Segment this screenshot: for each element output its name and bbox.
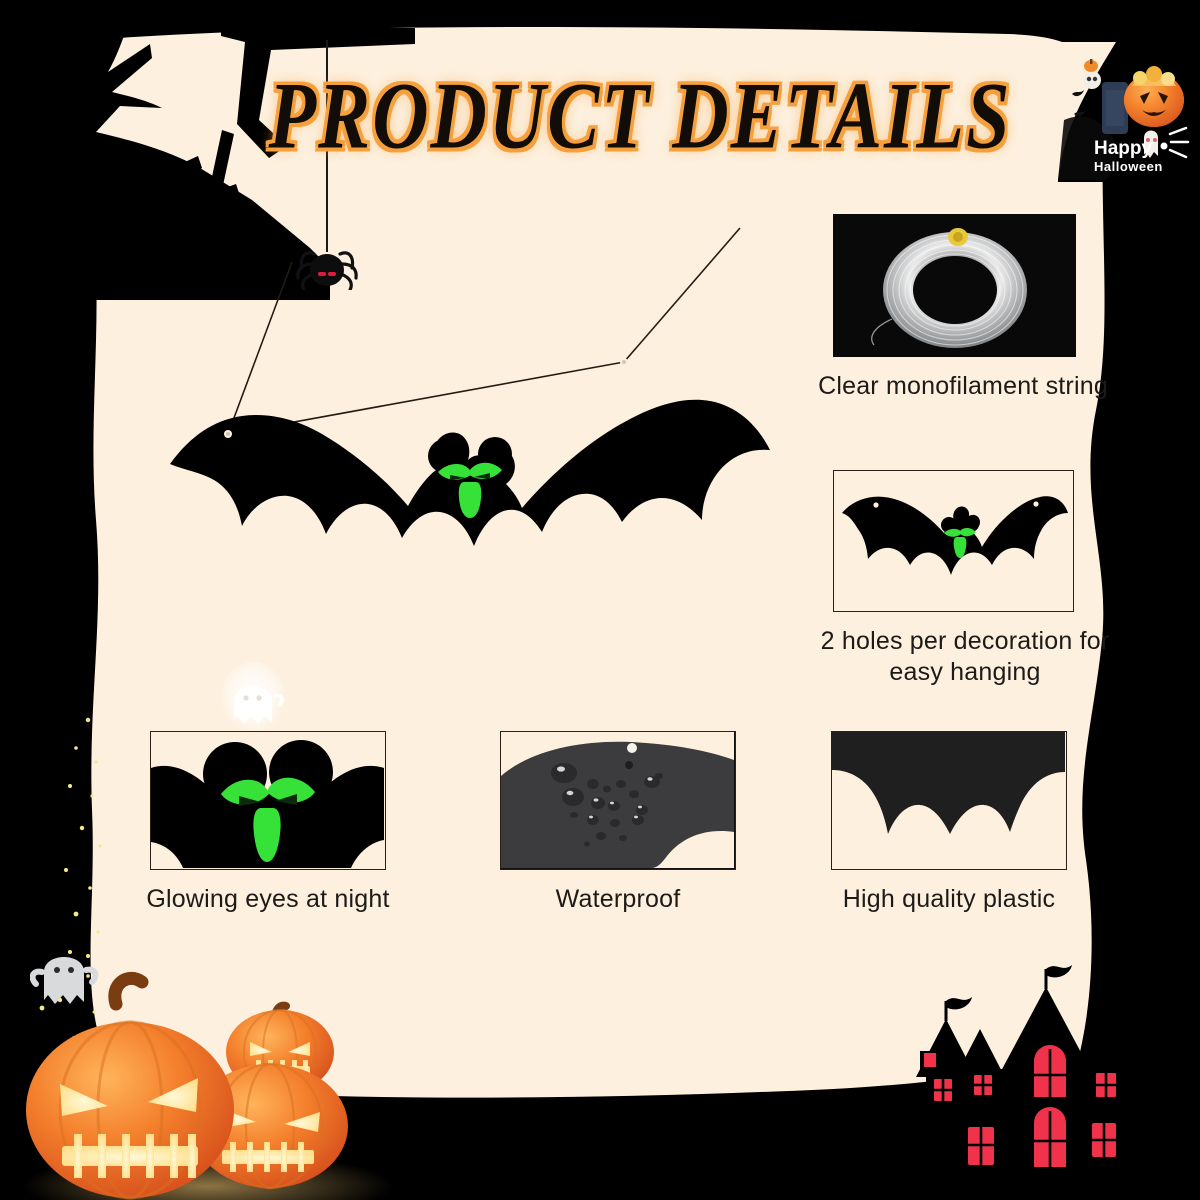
main-bat-decoration (150, 330, 790, 630)
floating-ghost (218, 660, 288, 736)
caption-high-quality-plastic: High quality plastic (809, 884, 1089, 915)
caption-line-1: 2 holes per decoration for (805, 626, 1125, 657)
haunted-castle-silhouette (900, 955, 1180, 1200)
card-waterproof: Waterproof (500, 731, 740, 915)
water-droplets-on-bat-photo (500, 731, 736, 870)
product-details-infographic: PRODUCT DETAILS Happy Halloween (0, 0, 1200, 1200)
card-monofilament-string: Clear monofilament string (833, 214, 1143, 402)
bat-face-glowing-eyes-photo (150, 731, 386, 870)
caption-line-2: easy hanging (805, 657, 1125, 688)
caption-waterproof: Waterproof (488, 884, 748, 915)
jack-o-lantern-group (18, 960, 398, 1200)
card-glowing-eyes: Glowing eyes at night (150, 731, 390, 915)
caption-monofilament-string: Clear monofilament string (798, 371, 1128, 402)
bat-wing-edge-photo (831, 731, 1067, 870)
bat-with-two-holes-photo (833, 470, 1074, 612)
caption-two-holes: 2 holes per decoration for easy hanging (805, 626, 1125, 687)
card-high-quality-plastic: High quality plastic (831, 731, 1071, 915)
monofilament-coil-photo (833, 214, 1076, 357)
caption-glowing-eyes: Glowing eyes at night (118, 884, 418, 915)
card-two-holes: 2 holes per decoration for easy hanging (833, 470, 1143, 687)
